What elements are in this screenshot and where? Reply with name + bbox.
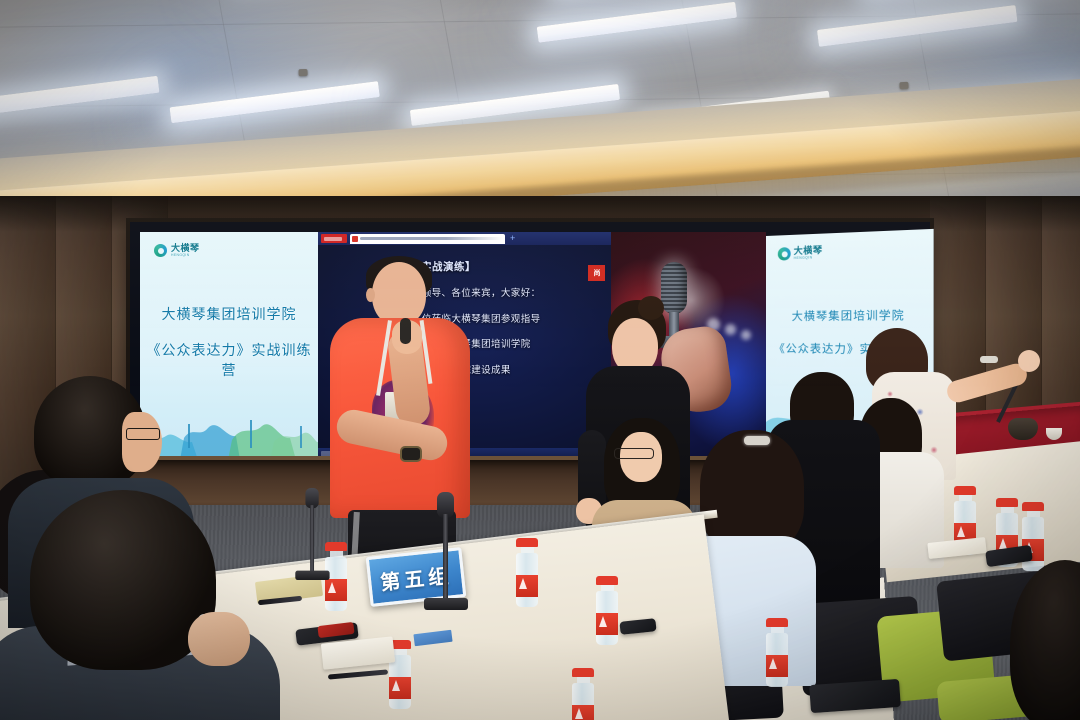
favicon-icon — [352, 236, 358, 242]
face — [122, 412, 162, 472]
hair — [700, 430, 804, 552]
teapot — [1008, 418, 1038, 440]
ear — [366, 288, 375, 302]
skyline-graphic — [140, 398, 318, 460]
hair-clip-icon — [744, 436, 770, 445]
hengqin-swirl-icon — [154, 244, 167, 257]
slide-title-line-2: 《公众表达力》实战训练营 — [140, 340, 318, 380]
browser-tab-title — [360, 237, 503, 240]
ceiling-sensor-icon — [899, 82, 908, 89]
brand-name-cn: 大横琴 — [171, 244, 200, 253]
hand-holding-cup — [188, 612, 250, 666]
browser-tab[interactable] — [350, 234, 505, 244]
browser-tab-bar[interactable]: + — [318, 232, 611, 245]
face — [372, 262, 426, 326]
brand-name-en: HENGQIN — [171, 254, 200, 257]
new-tab-button[interactable]: + — [508, 234, 515, 243]
brand-logo: 大横琴 HENGQIN — [154, 244, 200, 257]
brand-logo: 大横琴 HENGQIN — [778, 246, 823, 261]
retro-microphone-icon — [661, 262, 687, 314]
wristwatch-icon — [400, 446, 422, 462]
glasses-icon — [126, 428, 160, 440]
water-bottle — [572, 668, 594, 720]
hair-bun — [638, 296, 664, 320]
slide-title-line-1: 大横琴集团培训学院 — [766, 306, 934, 324]
hand — [1018, 350, 1040, 372]
ceiling-sensor-icon — [298, 69, 307, 76]
browser-brand-logo-icon — [321, 234, 347, 243]
brand-name-cn: 大横琴 — [794, 246, 823, 256]
brand-name-en: HENGQIN — [794, 256, 823, 260]
conference-room-photo: 大横琴 HENGQIN 大横琴集团培训学院 《公众表达力》实战训练营 + — [0, 0, 1080, 720]
water-bottle — [766, 618, 788, 687]
slide-title-line-1: 大横琴集团培训学院 — [140, 304, 318, 324]
slide-corner-badge: 尚 — [588, 265, 605, 281]
screen-left-title-slide: 大横琴 HENGQIN 大横琴集团培训学院 《公众表达力》实战训练营 — [140, 232, 318, 460]
water-bottle — [596, 576, 618, 645]
handheld-microphone-icon — [400, 318, 411, 344]
desk-microphone-stand — [295, 494, 318, 580]
hengqin-swirl-icon — [778, 247, 791, 261]
desk-microphone-stand — [424, 490, 468, 610]
glasses-icon — [614, 448, 654, 459]
water-bottle — [516, 538, 538, 607]
